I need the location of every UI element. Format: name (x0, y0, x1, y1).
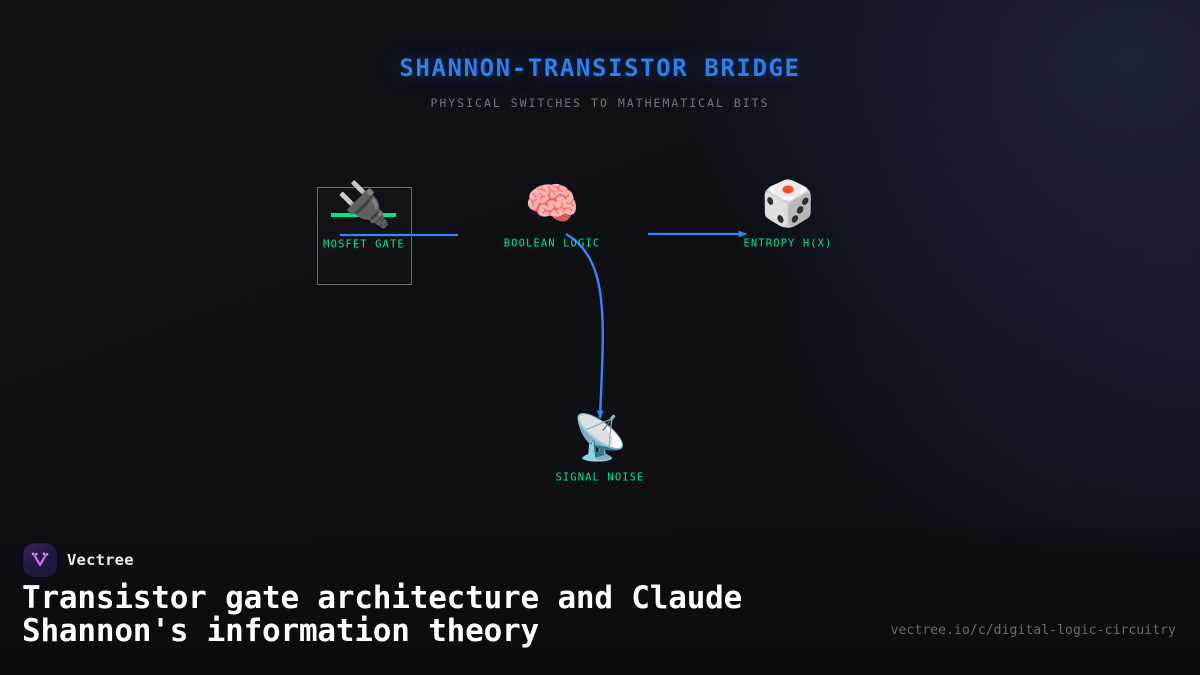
edge-to-signal-noise (566, 234, 603, 418)
node-label-entropy-hx: ENTROPY H(X) (743, 238, 832, 250)
node-entropy-hx[interactable]: 🎲 ENTROPY H(X) (743, 183, 832, 250)
brain-icon: 🧠 (504, 183, 600, 227)
node-label-mosfet-gate: MOSFET GATE (323, 239, 405, 251)
node-mosfet-gate[interactable]: 🔌 MOSFET GATE (323, 184, 405, 251)
vectree-v-tree-icon (24, 544, 56, 576)
footer: Vectree Transistor gate architecture and… (0, 528, 1200, 675)
node-signal-noise[interactable]: 📡 SIGNAL NOISE (555, 417, 644, 484)
brand-name: Vectree (67, 551, 134, 569)
poster-canvas: SHANNON-TRANSISTOR BRIDGE PHYSICAL SWITC… (0, 0, 1200, 675)
source-url: vectree.io/c/digital-logic-circuitry (891, 623, 1176, 638)
brand[interactable]: Vectree (24, 544, 134, 576)
headline: Transistor gate architecture and Claude … (22, 582, 922, 649)
header: SHANNON-TRANSISTOR BRIDGE PHYSICAL SWITC… (0, 0, 1200, 110)
plug-icon: 🔌 (323, 184, 405, 228)
page-title: SHANNON-TRANSISTOR BRIDGE (0, 54, 1200, 82)
diagram-canvas: 🔌 MOSFET GATE 🧠 BOOLEAN LOGIC 🎲 ENTROPY … (0, 130, 1200, 520)
node-label-signal-noise: SIGNAL NOISE (555, 472, 644, 484)
page-subtitle: PHYSICAL SWITCHES TO MATHEMATICAL BITS (0, 96, 1200, 110)
satellite-antenna-icon: 📡 (555, 417, 644, 461)
die-icon: 🎲 (743, 183, 832, 227)
node-boolean-logic[interactable]: 🧠 BOOLEAN LOGIC (504, 183, 600, 250)
node-label-boolean-logic: BOOLEAN LOGIC (504, 238, 600, 250)
